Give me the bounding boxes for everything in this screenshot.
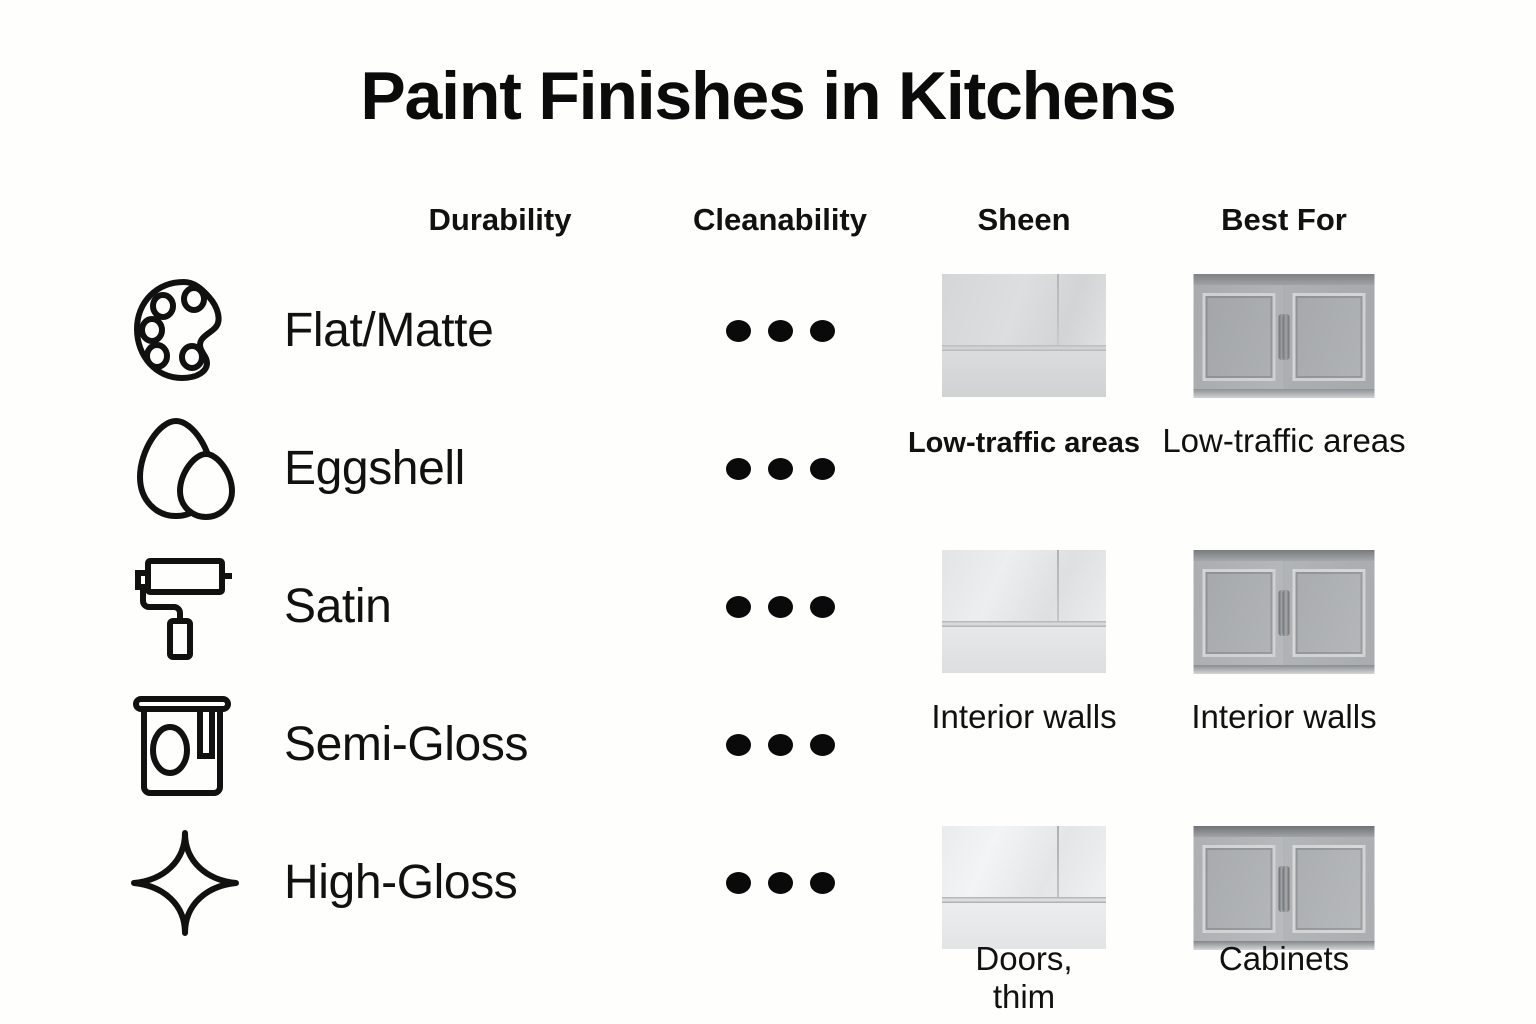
best-for-cell [1159, 262, 1409, 400]
rating-dot [726, 872, 751, 894]
sheen-cell [899, 814, 1149, 952]
column-header-cleanability: Cleanability [625, 204, 935, 235]
cleanability-rating [700, 596, 860, 618]
cleanability-rating [700, 872, 860, 894]
best-for-cell: Low-traffic areas [1159, 400, 1409, 538]
sheen-footer-cell: Doors, thim [899, 940, 1149, 1024]
sheen-cell [899, 262, 1149, 400]
kitchen-cabinets-photo [1194, 550, 1375, 674]
sheen-footer-line1: Doors, [899, 940, 1149, 978]
painted-wall-photo [942, 826, 1106, 949]
rating-dot [726, 734, 751, 756]
rating-dot [726, 458, 751, 480]
sheen-footer-line2: thim [899, 978, 1149, 1016]
column-header-sheen: Sheen [900, 204, 1148, 235]
table-row: Flat/Matte [0, 262, 1536, 400]
finish-name: High-Gloss [284, 859, 517, 907]
rating-dot [768, 320, 793, 342]
rating-dot [810, 872, 835, 894]
best-for-cell [1159, 538, 1409, 676]
rating-dot [768, 734, 793, 756]
sheen-cell: Low-traffic areas [899, 400, 1149, 538]
column-header-best-for: Best For [1160, 204, 1408, 235]
table-row: Eggshell Low-traffic areas Low-traffic a… [0, 400, 1536, 538]
infographic-canvas: Paint Finishes in Kitchens Durability Cl… [0, 0, 1536, 1024]
table-row: High-Gloss [0, 814, 1536, 952]
paint-roller-icon [125, 548, 245, 666]
cleanability-rating [700, 320, 860, 342]
table-row: Semi-Gloss Interior walls Interior walls [0, 676, 1536, 814]
painted-wall-photo [942, 550, 1106, 673]
rating-dot [768, 872, 793, 894]
rating-dot [810, 320, 835, 342]
paint-can-icon [125, 686, 245, 804]
best-for-cell [1159, 814, 1409, 952]
rating-dot [768, 458, 793, 480]
kitchen-cabinets-photo [1194, 826, 1375, 950]
rating-dot [726, 596, 751, 618]
best-for-text: Low-traffic areas [1159, 422, 1409, 460]
finish-name: Flat/Matte [284, 307, 493, 355]
sheen-cell [899, 538, 1149, 676]
kitchen-cabinets-photo [1194, 274, 1375, 398]
finish-name: Satin [284, 583, 391, 631]
best-for-footer-cell: Cabinets [1159, 940, 1409, 1024]
best-for-cell: Interior walls [1159, 676, 1409, 814]
finish-name: Semi-Gloss [284, 721, 528, 769]
cleanability-rating [700, 458, 860, 480]
finish-name: Eggshell [284, 445, 465, 493]
table-row: Satin [0, 538, 1536, 676]
rating-dot [768, 596, 793, 618]
palette-icon [125, 272, 245, 390]
cleanability-rating [700, 734, 860, 756]
best-for-text: Interior walls [1159, 698, 1409, 736]
sheen-text: Interior walls [899, 698, 1149, 736]
painted-wall-photo [942, 274, 1106, 397]
rating-dot [810, 458, 835, 480]
sheen-cell: Interior walls [899, 676, 1149, 814]
sheen-text: Low-traffic areas [899, 426, 1149, 461]
rating-dot [726, 320, 751, 342]
column-header-durability: Durability [345, 204, 655, 235]
rating-dot [810, 596, 835, 618]
eggs-icon [125, 410, 245, 528]
best-for-footer-text: Cabinets [1159, 940, 1409, 978]
rating-dot [810, 734, 835, 756]
sparkle-icon [125, 824, 245, 942]
page-title: Paint Finishes in Kitchens [0, 62, 1536, 130]
